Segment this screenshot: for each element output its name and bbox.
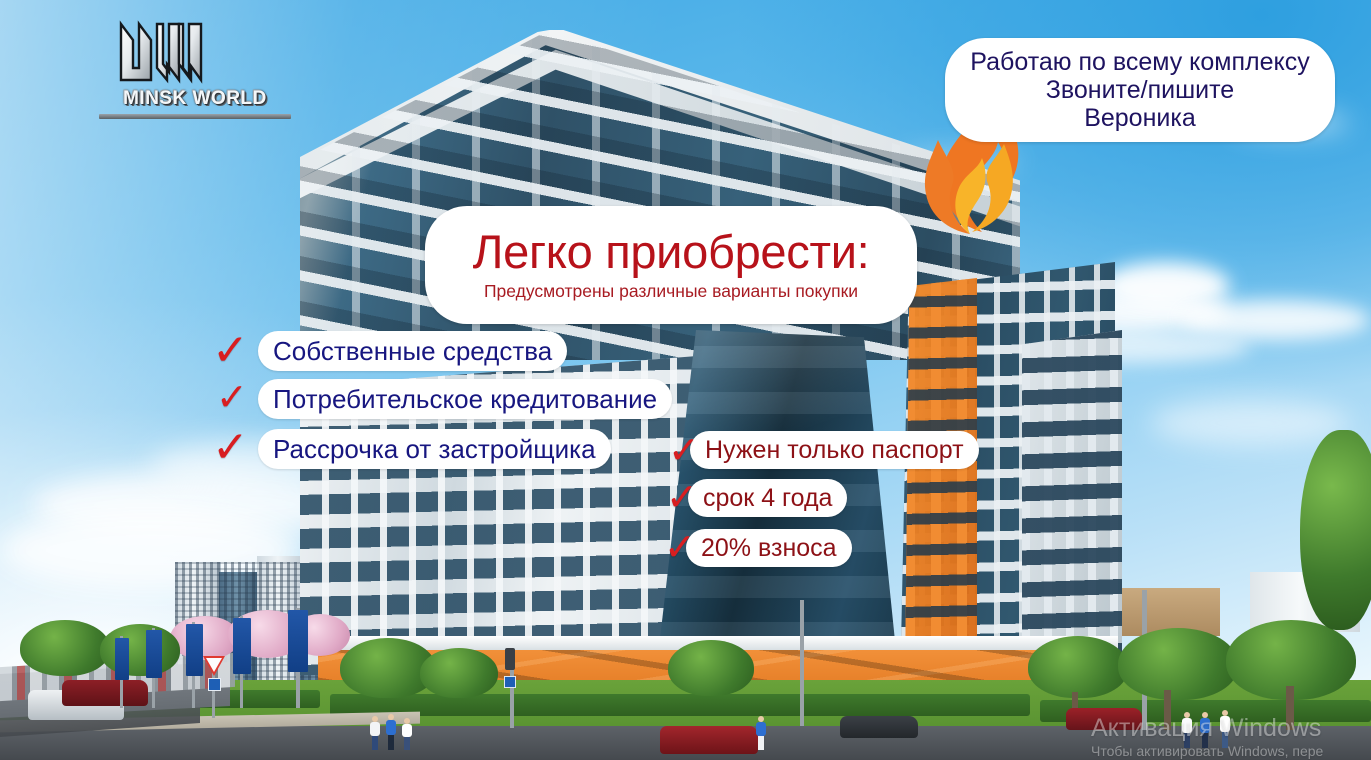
check-icon: ✓	[212, 329, 249, 373]
tree	[668, 640, 754, 696]
street-banner	[288, 610, 308, 672]
brand-underline	[99, 114, 291, 119]
brand-wordmark: MINSK WORLD	[95, 88, 295, 110]
pedestrian	[386, 714, 396, 750]
tree	[1118, 628, 1238, 700]
pedestrian	[370, 716, 380, 750]
street-banner	[233, 618, 251, 674]
agent-callout: Работаю по всему комплексу Звоните/пишит…	[945, 38, 1335, 142]
page-subtitle: Предусмотрены различные варианты покупки	[484, 281, 858, 302]
hedge-row	[330, 694, 1030, 716]
crosswalk-sign	[208, 678, 221, 691]
check-icon: ✓	[668, 431, 700, 469]
check-icon: ✓	[664, 528, 696, 566]
callout-line-1: Работаю по всему комплексу	[970, 48, 1309, 76]
street-banner	[146, 630, 162, 678]
pedestrian	[756, 716, 766, 750]
installment-term-2: срок 4 года	[688, 479, 847, 517]
watermark-subtitle: Чтобы активировать Windows, пере	[1091, 743, 1353, 760]
building-orange-panel-windows	[905, 278, 977, 678]
watermark-title: Активация Windows	[1091, 714, 1353, 743]
street-banner	[186, 624, 203, 676]
check-icon: ✓	[216, 378, 248, 416]
installment-term-label: Нужен только паспорт	[705, 436, 964, 465]
payment-option-3: Рассрочка от застройщика	[258, 429, 611, 469]
tree	[100, 624, 180, 676]
payment-option-label: Рассрочка от застройщика	[273, 434, 596, 465]
page-title: Легко приобрести:	[473, 228, 870, 275]
car	[840, 716, 918, 738]
payment-option-2: Потребительское кредитование	[258, 379, 672, 419]
check-icon: ✓	[212, 426, 249, 470]
payment-option-label: Потребительское кредитование	[273, 384, 657, 415]
installment-term-label: 20% взноса	[701, 534, 837, 563]
cloud	[1150, 400, 1350, 446]
tree	[20, 620, 110, 676]
crosswalk-sign	[504, 676, 516, 688]
payment-option-label: Собственные средства	[273, 336, 552, 367]
callout-line-2: Звоните/пишите	[970, 76, 1309, 104]
pedestrian	[402, 718, 412, 750]
promo-banner: MINSK WORLD Работаю по всему комплексу З…	[0, 0, 1371, 760]
lamp-post	[800, 600, 804, 726]
callout-line-3: Вероника	[970, 104, 1309, 132]
installment-term-1: Нужен только паспорт	[690, 431, 979, 469]
payment-option-1: Собственные средства	[258, 331, 567, 371]
check-icon: ✓	[666, 478, 698, 516]
installment-term-label: срок 4 года	[703, 484, 832, 513]
tree	[420, 648, 498, 698]
windows-activation-watermark: Активация Windows Чтобы активировать Win…	[1091, 714, 1353, 760]
car	[660, 726, 758, 754]
traffic-light-pole	[510, 664, 514, 728]
street-banner	[115, 638, 129, 680]
mw-monogram-icon	[117, 18, 209, 84]
tree	[1028, 636, 1128, 698]
cloud	[1100, 262, 1230, 310]
brand-logo: MINSK WORLD	[95, 18, 305, 118]
heading-box: Легко приобрести: Предусмотрены различны…	[425, 206, 917, 324]
traffic-light	[505, 648, 515, 670]
car	[62, 680, 148, 706]
tree	[1300, 430, 1371, 630]
installment-term-3: 20% взноса	[686, 529, 852, 567]
